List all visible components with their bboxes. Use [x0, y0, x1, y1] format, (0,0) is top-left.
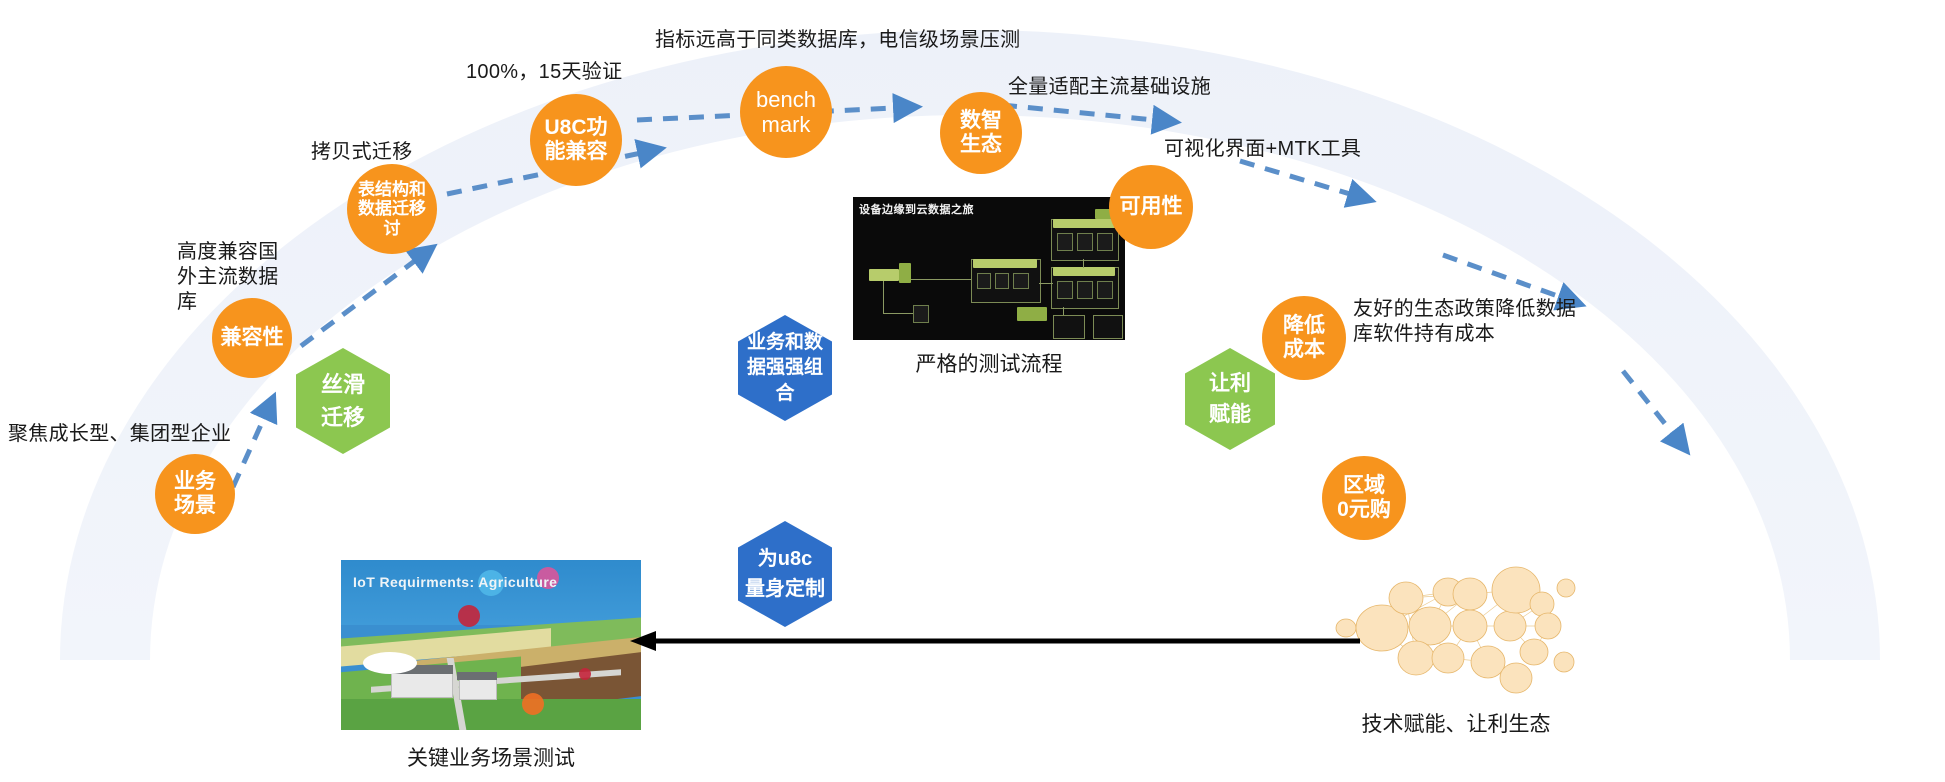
iot-agriculture-image: IoT Requirments: Agriculture	[341, 560, 641, 730]
iot-dot-red	[458, 605, 480, 627]
node-region-free-label: 区域 0元购	[1337, 474, 1391, 522]
hex-smooth-migration-label: 丝滑 迁移	[321, 368, 365, 434]
caption-copy-migration: 拷贝式迁移	[311, 140, 491, 165]
node-schema-migration-label: 表结构和 数据迁移 讨	[358, 180, 426, 239]
node-availability[interactable]: 可用性	[1109, 165, 1193, 249]
node-business-scene-label: 业务 场景	[174, 470, 216, 518]
node-schema-migration[interactable]: 表结构和 数据迁移 讨	[347, 164, 437, 254]
test-flow-image-caption: 严格的测试流程	[853, 348, 1125, 378]
node-business-scene[interactable]: 业务 场景	[155, 454, 235, 534]
node-benchmark-label: bench mark	[756, 87, 816, 138]
tech-ecosystem-image	[1320, 558, 1592, 698]
iot-building-2	[459, 678, 497, 700]
test-flow-image: 设备边缘到云数据之旅	[853, 197, 1125, 340]
tech-ecosystem-image-caption: 技术赋能、让利生态	[1300, 708, 1612, 738]
iot-roof-2	[457, 672, 497, 680]
node-digital-eco[interactable]: 数智 生态	[940, 92, 1022, 174]
ecosystem-graph	[1320, 558, 1592, 698]
caption-metrics-superior: 指标远高于同类数据库，电信级场景压测	[655, 28, 1155, 53]
caption-high-compat: 高度兼容国 外主流数据 库	[177, 240, 297, 315]
test-flow-image-title: 设备边缘到云数据之旅	[859, 201, 974, 217]
iot-dot-darkred	[579, 668, 591, 680]
node-digital-eco-label: 数智 生态	[960, 109, 1002, 157]
node-availability-label: 可用性	[1120, 195, 1183, 219]
node-benchmark[interactable]: bench mark	[740, 66, 832, 158]
flow-arrow-left	[630, 626, 1360, 656]
node-compatibility-label: 兼容性	[221, 326, 284, 350]
node-region-free[interactable]: 区域 0元购	[1322, 456, 1406, 540]
diagram-canvas: 设备边缘到云数据之旅 严格的测试流程	[0, 0, 1945, 782]
iot-cloud	[363, 652, 417, 674]
caption-focus-enterprise: 聚焦成长型、集团型企业	[8, 422, 308, 447]
node-lower-cost[interactable]: 降低 成本	[1262, 296, 1346, 380]
node-u8c-compat-label: U8C功 能兼容	[544, 116, 607, 164]
hex-profit-enable-label: 让利 赋能	[1209, 368, 1251, 431]
caption-verify-15days: 100%，15天验证	[466, 60, 686, 85]
caption-eco-policy-cost: 友好的生态政策降低数据 库软件持有成本	[1353, 297, 1633, 347]
node-u8c-compat[interactable]: U8C功 能兼容	[530, 94, 622, 186]
iot-image-caption: 关键业务场景测试	[331, 742, 651, 772]
iot-building-1	[391, 672, 453, 698]
iot-field-6	[341, 699, 641, 730]
iot-image-title: IoT Requirments: Agriculture	[353, 574, 557, 592]
node-lower-cost-label: 降低 成本	[1283, 314, 1325, 362]
caption-visual-mtk: 可视化界面+MTK工具	[1164, 137, 1494, 162]
iot-dot-orange	[522, 693, 544, 715]
hex-tailor-u8c-label: 为u8c 量身定制	[745, 544, 825, 604]
caption-full-adaptation: 全量适配主流基础设施	[1008, 75, 1338, 100]
hex-biz-data-combo-label: 业务和数 据强强组 合	[747, 330, 823, 407]
